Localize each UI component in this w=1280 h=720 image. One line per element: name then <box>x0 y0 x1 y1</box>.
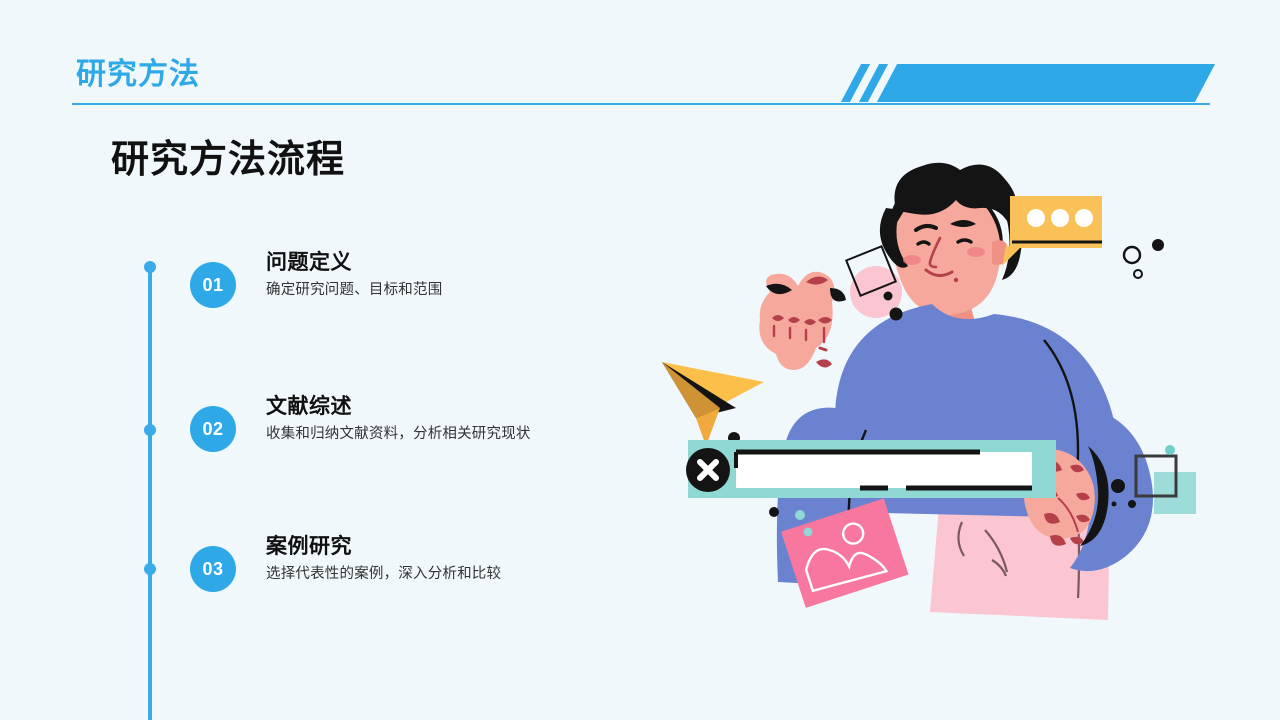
card-dot-2 <box>795 510 805 520</box>
cheek-right <box>967 247 985 257</box>
dot-small-1 <box>884 292 893 301</box>
step-title: 文献综述 <box>266 390 352 420</box>
square-dot-1 <box>1165 445 1175 455</box>
step-number-badge: 01 <box>190 262 236 308</box>
paper-plane-icon <box>662 362 764 446</box>
eye-right <box>958 240 971 242</box>
step-number-badge: 03 <box>190 546 236 592</box>
timeline-line <box>148 265 152 720</box>
step-number-badge: 02 <box>190 406 236 452</box>
section-title: 研究方法流程 <box>111 138 345 184</box>
step-description: 选择代表性的案例，深入分析和比较 <box>266 562 501 583</box>
square-dot-3 <box>1128 500 1136 508</box>
square-dot-4 <box>1112 502 1117 507</box>
header-decoration <box>845 64 1205 102</box>
dot-filled-1 <box>1152 239 1164 251</box>
header-divider <box>72 103 1210 105</box>
step-title: 问题定义 <box>266 246 352 276</box>
card-dot-1 <box>769 507 779 517</box>
step-description: 收集和归纳文献资料，分析相关研究现状 <box>266 422 531 443</box>
bubble-dot-2 <box>1051 209 1069 227</box>
slide: 研究方法 研究方法流程 01 问题定义 确定研究问题、目标和范围 02 文献综述… <box>0 0 1280 720</box>
eye-left <box>918 242 929 244</box>
bubble-dot-1 <box>1027 209 1045 227</box>
ring-outline-small <box>1134 270 1142 278</box>
slide-header: 研究方法 <box>0 0 1280 110</box>
face-mole <box>954 278 958 282</box>
dot-small-2 <box>890 308 903 321</box>
search-bar <box>686 440 1056 498</box>
finger-crease <box>820 348 826 350</box>
timeline-node-2 <box>144 424 156 436</box>
card-dot-3 <box>804 528 813 537</box>
step-title: 案例研究 <box>266 530 352 560</box>
timeline-node-3 <box>144 563 156 575</box>
illustration-person-with-search-bar <box>640 150 1240 650</box>
ring-outline <box>1124 247 1140 263</box>
decoration-bar <box>877 64 1215 102</box>
bubble-dot-3 <box>1075 209 1093 227</box>
square-dot-2 <box>1111 479 1125 493</box>
step-description: 确定研究问题、目标和范围 <box>266 278 442 299</box>
cheek-left <box>903 255 921 265</box>
finger-nail <box>816 359 832 367</box>
page-title: 研究方法 <box>76 60 200 90</box>
search-input-field <box>736 452 1032 488</box>
